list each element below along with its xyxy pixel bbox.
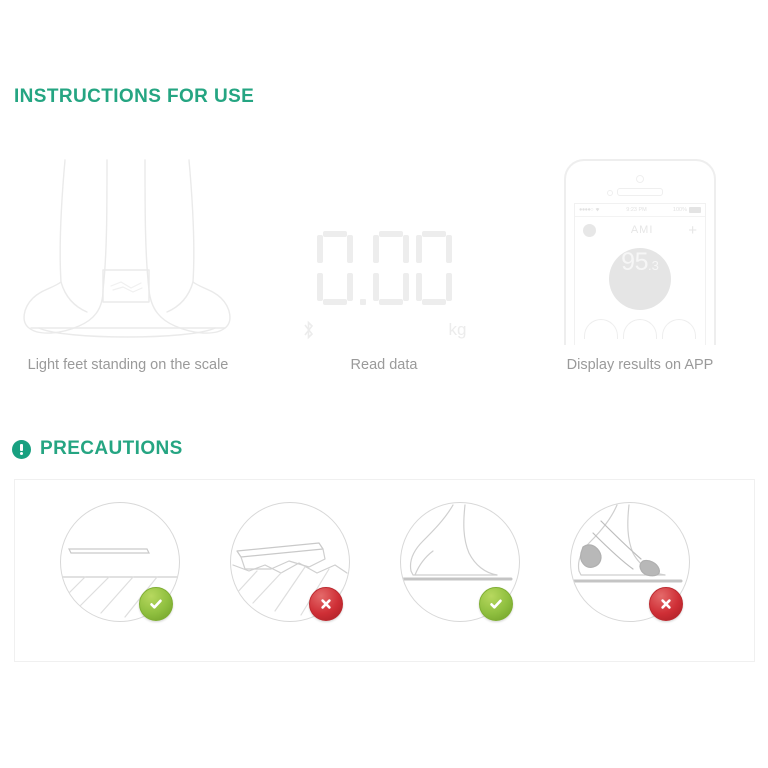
instructions-steps-row: Light feet standing on the scale bbox=[0, 150, 768, 390]
lcd-unit-label: kg bbox=[449, 320, 467, 345]
app-tab-bar bbox=[575, 319, 705, 339]
cross-badge bbox=[309, 587, 343, 621]
add-button[interactable]: + bbox=[688, 223, 697, 238]
phone-sensor-icon bbox=[607, 190, 613, 196]
check-icon bbox=[488, 596, 504, 612]
instruction-step-2-caption: Read data bbox=[351, 357, 418, 373]
check-badge bbox=[479, 587, 513, 621]
alert-circle-icon bbox=[12, 440, 31, 459]
lcd-digit-2 bbox=[416, 231, 452, 305]
app-tab-3[interactable] bbox=[662, 319, 696, 339]
weight-decimal: .3 bbox=[648, 258, 659, 273]
bluetooth-icon bbox=[302, 320, 315, 345]
precaution-item-4 bbox=[545, 492, 715, 632]
weight-readout-circle: 95 .3 bbox=[609, 248, 671, 310]
app-tab-2[interactable] bbox=[623, 319, 657, 339]
instruction-step-2: kg Read data bbox=[256, 150, 512, 390]
precautions-items-row bbox=[35, 492, 715, 632]
phone-camera-icon bbox=[636, 175, 644, 183]
instruction-step-1: Light feet standing on the scale bbox=[0, 150, 256, 390]
lcd-readout bbox=[317, 231, 452, 311]
avatar[interactable] bbox=[583, 224, 596, 237]
instructions-heading-label: INSTRUCTIONS FOR USE bbox=[14, 86, 254, 108]
app-title: AMI bbox=[631, 224, 654, 236]
precautions-heading-label: PRECAUTIONS bbox=[40, 438, 183, 460]
precaution-item-3 bbox=[375, 492, 545, 632]
lcd-digit-0 bbox=[317, 231, 353, 305]
signal-dots-icon: ●●●●○ bbox=[579, 207, 593, 213]
precautions-panel bbox=[14, 479, 755, 662]
instruction-step-1-caption: Light feet standing on the scale bbox=[28, 357, 229, 373]
phone-status-bar: ●●●●○ 9:23 PM 100% bbox=[575, 204, 705, 217]
phone-screen: ●●●●○ 9:23 PM 100% AMI bbox=[574, 203, 706, 345]
precaution-item-1 bbox=[35, 492, 205, 632]
app-top-bar: AMI + bbox=[575, 217, 705, 243]
feet-on-scale-illustration bbox=[3, 150, 253, 345]
check-icon bbox=[148, 596, 164, 612]
battery-icon bbox=[689, 207, 701, 213]
wifi-icon bbox=[595, 207, 600, 214]
cross-icon bbox=[658, 596, 674, 612]
status-bar-time: 9:23 PM bbox=[626, 207, 646, 213]
cross-icon bbox=[318, 596, 334, 612]
instruction-step-3: ●●●●○ 9:23 PM 100% AMI bbox=[512, 150, 768, 390]
precaution-item-2 bbox=[205, 492, 375, 632]
phone-body: ●●●●○ 9:23 PM 100% AMI bbox=[564, 159, 716, 345]
app-tab-1[interactable] bbox=[584, 319, 618, 339]
lcd-digit-1 bbox=[373, 231, 409, 305]
cross-badge bbox=[649, 587, 683, 621]
battery-percent-label: 100% bbox=[673, 207, 687, 213]
check-badge bbox=[139, 587, 173, 621]
lcd-decimal-point bbox=[360, 299, 366, 305]
instruction-step-3-caption: Display results on APP bbox=[567, 357, 714, 373]
lcd-display-illustration: kg bbox=[302, 150, 467, 345]
smartphone-app-illustration: ●●●●○ 9:23 PM 100% AMI bbox=[564, 150, 716, 345]
phone-speaker bbox=[617, 188, 663, 196]
instructions-heading: INSTRUCTIONS FOR USE bbox=[14, 86, 254, 108]
weight-integer: 95 bbox=[621, 248, 648, 277]
precautions-heading: PRECAUTIONS bbox=[12, 438, 183, 460]
scale-brand-mark bbox=[111, 282, 142, 292]
